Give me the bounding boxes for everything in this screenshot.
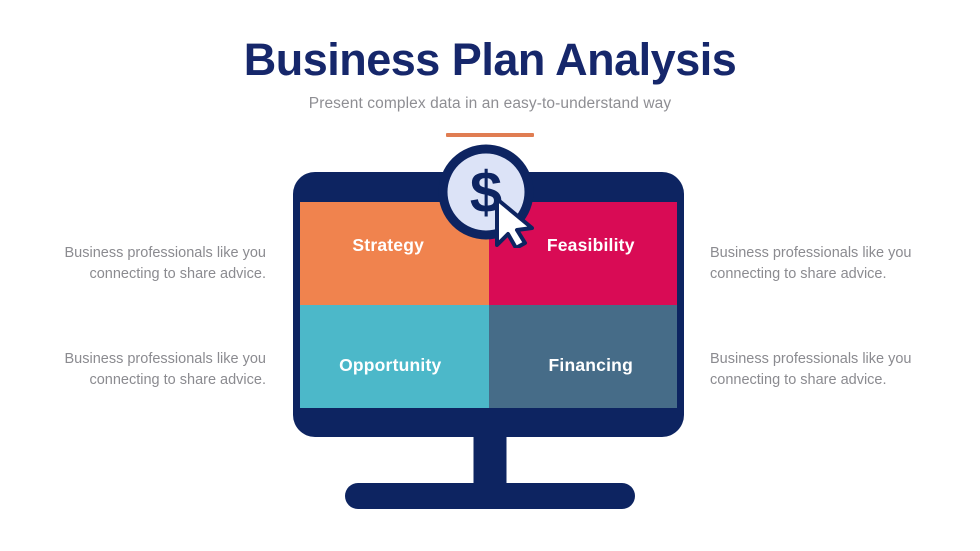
quadrant-opportunity[interactable]: Opportunity [300,305,489,408]
quadrant-financing[interactable]: Financing [489,305,678,408]
webcam-indicator-icon [458,185,520,193]
quadrant-label-feasibility: Feasibility [547,235,635,256]
page-subtitle: Present complex data in an easy-to-under… [0,95,980,113]
slide-header: Business Plan Analysis Present complex d… [0,36,980,137]
quadrant-strategy[interactable]: Strategy [300,202,489,305]
quadrant-feasibility[interactable]: Feasibility [489,202,678,305]
caption-bottom-right: Business professionals like you connecti… [710,349,926,391]
quadrant-label-financing: Financing [549,355,633,376]
monitor-stand-base [345,483,635,509]
accent-divider [446,133,534,137]
caption-bottom-left: Business professionals like you connecti… [50,349,266,391]
monitor-graphic: Strategy Feasibility Opportunity Financi… [293,172,684,437]
caption-top-right: Business professionals like you connecti… [710,243,926,285]
slide-canvas: Business Plan Analysis Present complex d… [0,0,980,551]
page-title: Business Plan Analysis [0,36,980,83]
quadrant-label-strategy: Strategy [352,235,424,256]
caption-top-left: Business professionals like you connecti… [50,243,266,285]
monitor-screen: Strategy Feasibility Opportunity Financi… [300,202,677,408]
quadrant-label-opportunity: Opportunity [339,355,441,376]
